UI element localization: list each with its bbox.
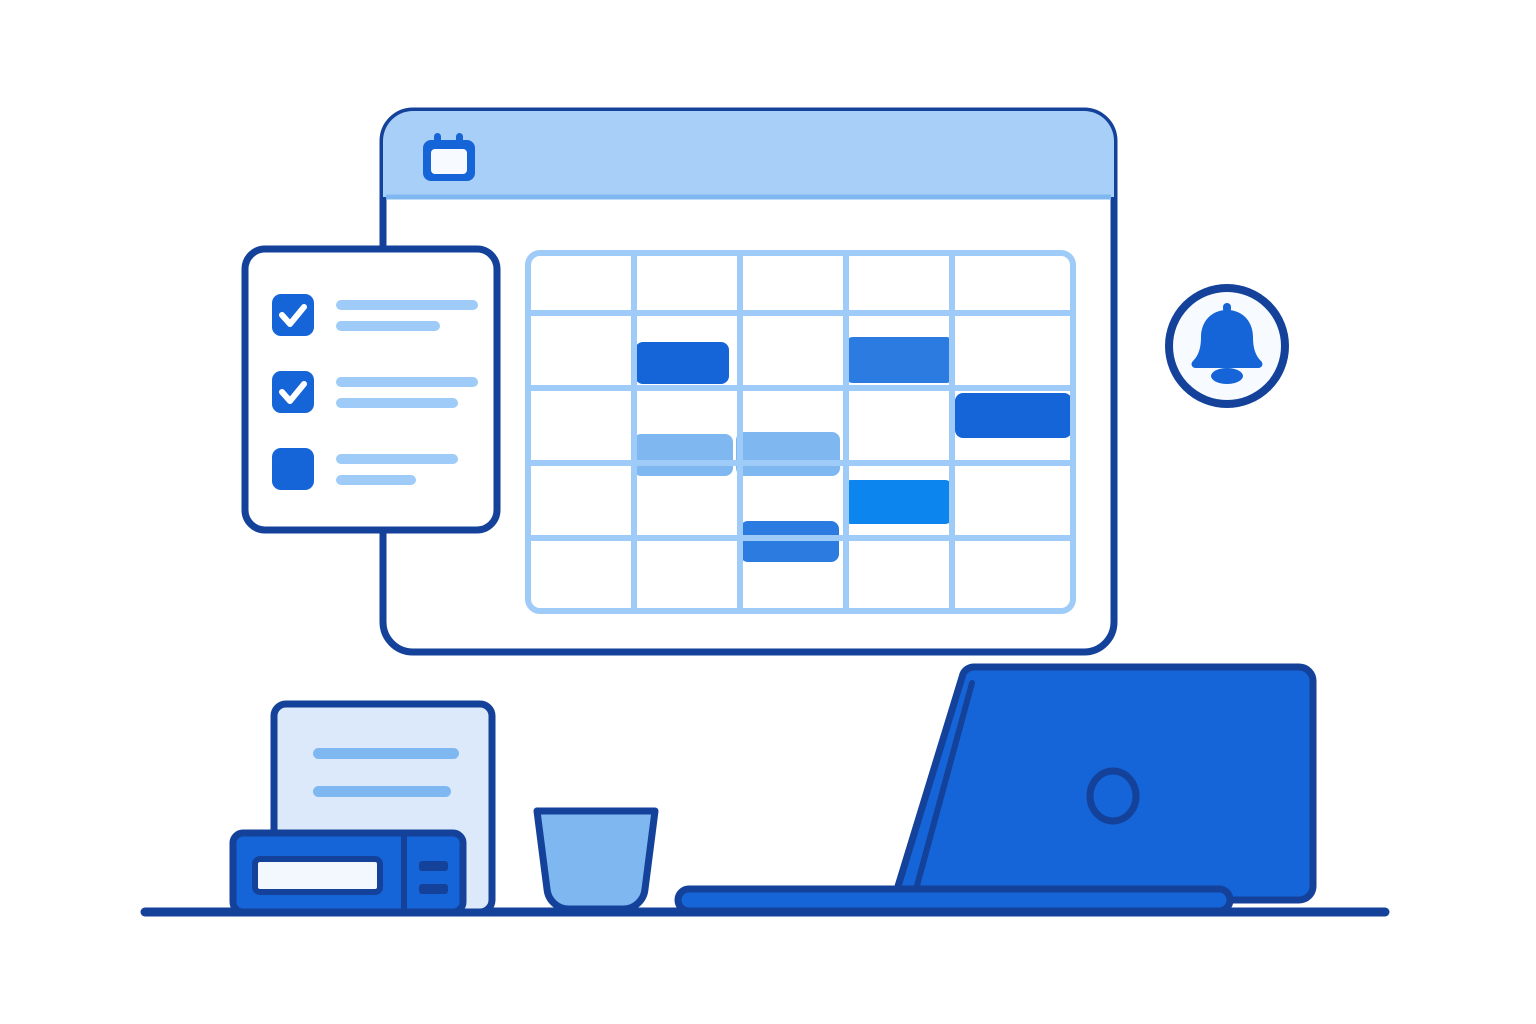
checkbox-checked[interactable] [272, 371, 314, 413]
desk-device[interactable] [233, 833, 463, 912]
checkbox-unchecked[interactable] [272, 448, 314, 490]
event-block[interactable] [736, 432, 840, 476]
document-line [313, 786, 451, 797]
device-dash [419, 861, 448, 871]
checklist-line [336, 300, 478, 310]
checklist-line [336, 454, 458, 464]
checkbox-checked[interactable] [272, 294, 314, 336]
laptop[interactable] [678, 667, 1313, 911]
laptop-lid [898, 667, 1313, 900]
checklist-line [336, 398, 458, 408]
event-block[interactable] [843, 480, 953, 524]
notification-bell-badge[interactable] [1169, 288, 1285, 404]
calendar-icon[interactable] [423, 133, 475, 181]
cup-icon [537, 811, 655, 909]
checklist-line [336, 475, 416, 485]
illustration-svg [0, 0, 1536, 1024]
event-block[interactable] [635, 342, 729, 384]
illustration-canvas [0, 0, 1536, 1024]
bell-clapper-icon [1211, 368, 1243, 384]
checklist-line [336, 377, 478, 387]
event-block[interactable] [740, 521, 839, 562]
document-line [313, 748, 459, 759]
device-label-panel [255, 859, 380, 892]
event-block[interactable] [633, 434, 733, 476]
checklist-line [336, 321, 440, 331]
window-header-bar [383, 111, 1114, 197]
event-block[interactable] [955, 393, 1072, 438]
checklist-card[interactable] [245, 249, 497, 530]
coffee-cup[interactable] [537, 811, 655, 909]
event-block[interactable] [845, 337, 954, 383]
laptop-base [678, 889, 1230, 911]
device-dash [419, 884, 448, 894]
